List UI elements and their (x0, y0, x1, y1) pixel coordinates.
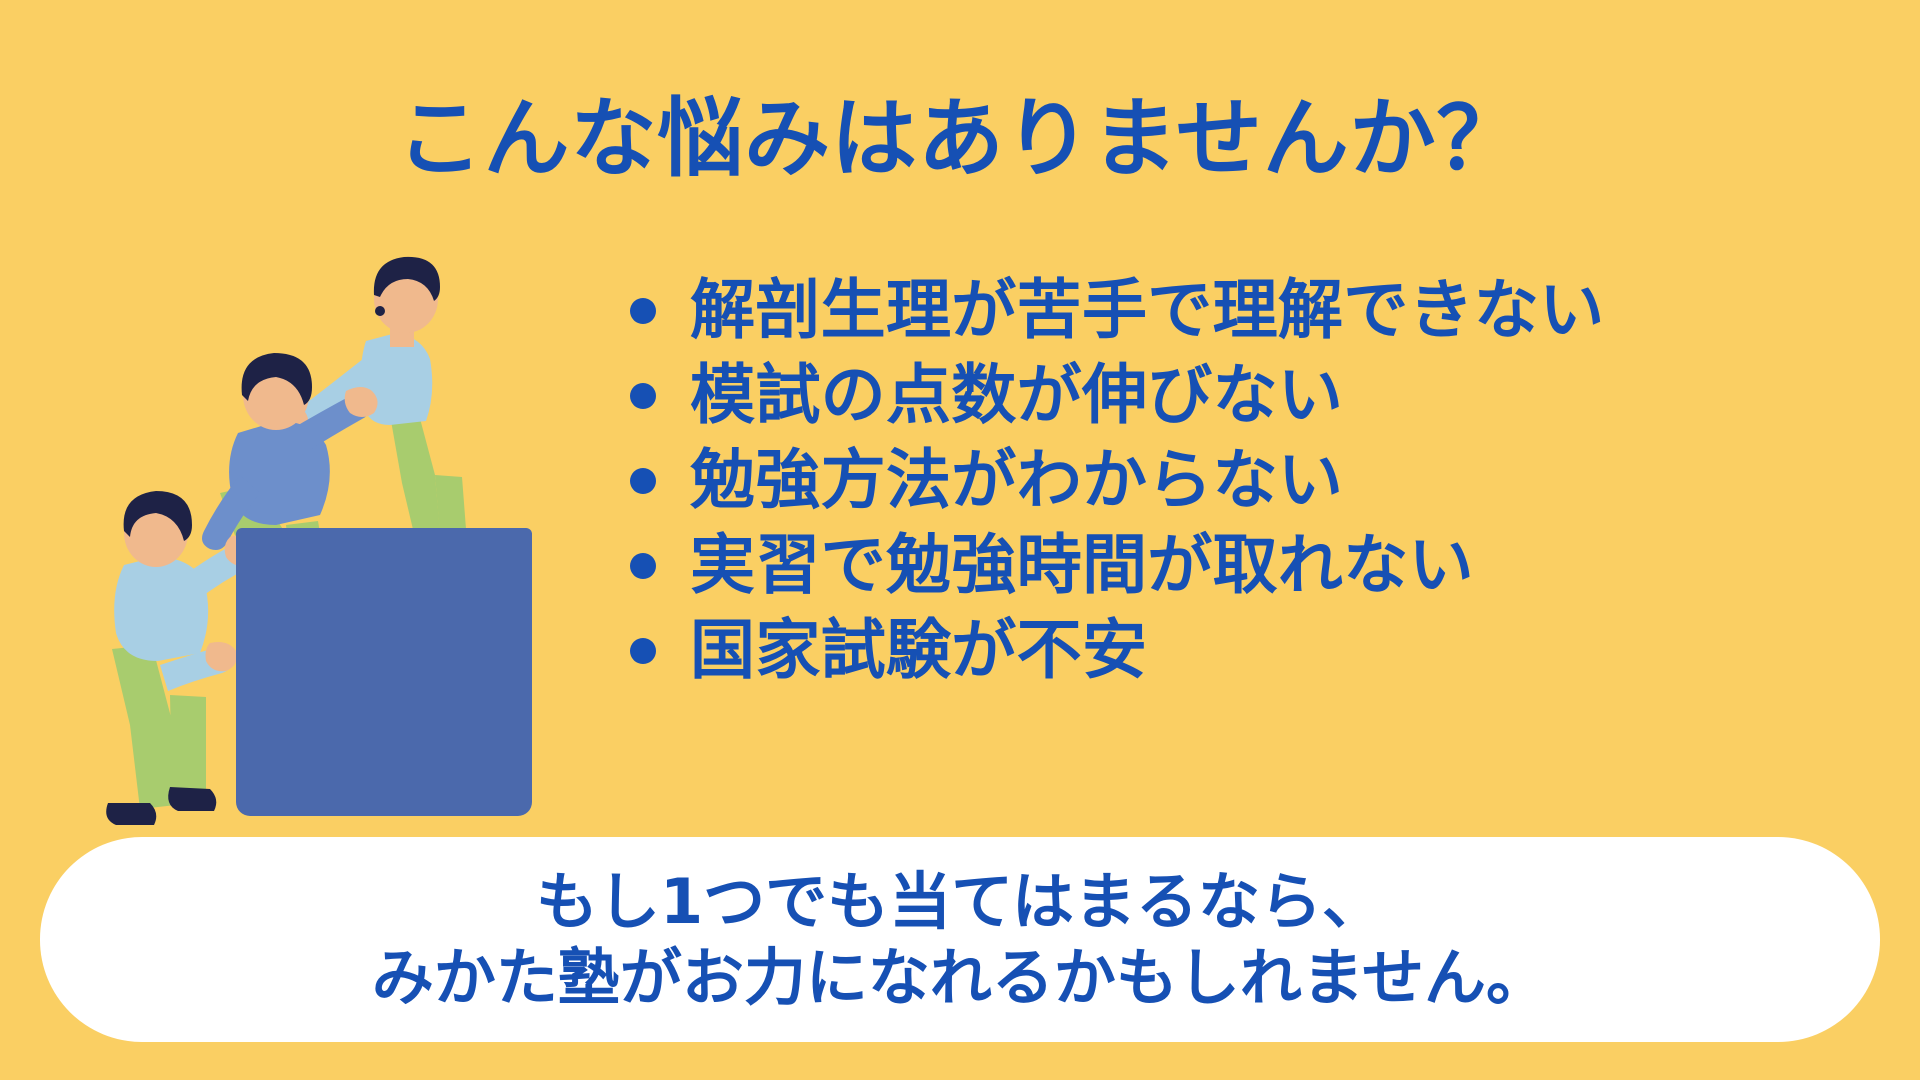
bullet-dot-icon (630, 298, 656, 324)
bullet-dot-icon (630, 638, 656, 664)
bullet-dot-icon (630, 383, 656, 409)
list-item-label: 国家試験が不安 (690, 618, 1147, 683)
list-item-label: 実習で勉強時間が取れない (690, 533, 1474, 598)
concerns-list: 解剖生理が苦手で理解できない 模試の点数が伸びない 勉強方法がわからない 実習で… (630, 268, 1900, 693)
callout-line-1: もし1つでも当てはまるなら、 (536, 864, 1384, 940)
list-item-label: 解剖生理が苦手で理解できない (690, 278, 1605, 343)
list-item: 国家試験が不安 (630, 608, 1900, 693)
list-item-label: 勉強方法がわからない (690, 448, 1343, 513)
list-item-label: 模試の点数が伸びない (690, 363, 1343, 428)
poster-canvas: こんな悩みはありませんか？ (0, 0, 1920, 1080)
list-item: 模試の点数が伸びない (630, 353, 1900, 438)
callout-card: もし1つでも当てはまるなら、 みかた塾がお力になれるかもしれません。 (40, 837, 1880, 1042)
bullet-dot-icon (630, 468, 656, 494)
page-title: こんな悩みはありませんか？ (0, 96, 1920, 182)
list-item: 実習で勉強時間が取れない (630, 523, 1900, 608)
list-item: 勉強方法がわからない (630, 438, 1900, 523)
callout-line-2: みかた塾がお力になれるかもしれません。 (372, 940, 1548, 1016)
list-item: 解剖生理が苦手で理解できない (630, 268, 1900, 353)
illustration-blue-block (236, 528, 532, 816)
bullet-dot-icon (630, 553, 656, 579)
